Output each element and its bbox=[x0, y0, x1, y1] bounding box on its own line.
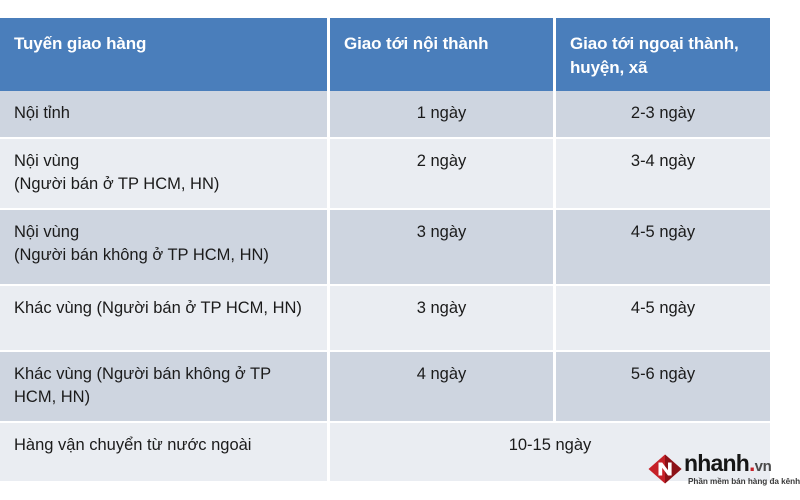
column-header-outer-city: Giao tới ngoại thành, huyện, xã bbox=[556, 18, 770, 91]
cell-inner-city: 4 ngày bbox=[330, 352, 556, 423]
cell-inner-city: 2 ngày bbox=[330, 139, 556, 210]
table-header-row: Tuyến giao hàng Giao tới nội thành Giao … bbox=[0, 18, 770, 91]
table-row: Nội vùng (Người bán không ở TP HCM, HN) … bbox=[0, 210, 770, 286]
cell-outer-city: 4-5 ngày bbox=[556, 286, 770, 352]
cell-route: Nội vùng (Người bán ở TP HCM, HN) bbox=[0, 139, 330, 210]
table-row: Nội vùng (Người bán ở TP HCM, HN) 2 ngày… bbox=[0, 139, 770, 210]
cell-inner-city: 3 ngày bbox=[330, 210, 556, 286]
cell-route: Hàng vận chuyển từ nước ngoài bbox=[0, 423, 330, 481]
cell-inner-city: 1 ngày bbox=[330, 91, 556, 138]
route-label-line1: Nội vùng bbox=[14, 223, 79, 241]
route-label-line2: (Người bán không ở TP HCM, HN) bbox=[14, 244, 313, 267]
table-header: Tuyến giao hàng Giao tới nội thành Giao … bbox=[0, 18, 770, 91]
cell-inner-city: 3 ngày bbox=[330, 286, 556, 352]
column-header-inner-city: Giao tới nội thành bbox=[330, 18, 556, 91]
table-body: Nội tỉnh 1 ngày 2-3 ngày Nội vùng (Người… bbox=[0, 91, 770, 480]
cell-outer-city: 2-3 ngày bbox=[556, 91, 770, 138]
table-row: Khác vùng (Người bán không ở TP HCM, HN)… bbox=[0, 352, 770, 423]
table-row: Nội tỉnh 1 ngày 2-3 ngày bbox=[0, 91, 770, 138]
column-header-route: Tuyến giao hàng bbox=[0, 18, 330, 91]
logo-tagline: Phần mềm bán hàng đa kênh bbox=[688, 477, 800, 486]
cell-route: Khác vùng (Người bán ở TP HCM, HN) bbox=[0, 286, 330, 352]
cell-outer-city: 3-4 ngày bbox=[556, 139, 770, 210]
route-label-line2: (Người bán ở TP HCM, HN) bbox=[14, 173, 313, 196]
cell-route: Nội tỉnh bbox=[0, 91, 330, 138]
logo-wordmark: nhanh.vn bbox=[684, 452, 772, 475]
route-label-line1: Khác vùng (Người bán không ở TP HCM, HN) bbox=[14, 365, 271, 406]
nhanh-diamond-n-icon bbox=[648, 454, 682, 484]
cell-route: Nội vùng (Người bán không ở TP HCM, HN) bbox=[0, 210, 330, 286]
shipping-time-table: Tuyến giao hàng Giao tới nội thành Giao … bbox=[0, 18, 770, 481]
route-label-line1: Nội tỉnh bbox=[14, 104, 70, 122]
logo-name: nhanh bbox=[684, 450, 749, 476]
route-label-line1: Hàng vận chuyển từ nước ngoài bbox=[14, 436, 251, 454]
screenshot-canvas: Tuyến giao hàng Giao tới nội thành Giao … bbox=[0, 0, 800, 500]
route-label-line1: Nội vùng bbox=[14, 152, 79, 170]
logo-tld: vn bbox=[755, 458, 772, 475]
nhanh-vn-logo: nhanh.vn Phần mềm bán hàng đa kênh bbox=[648, 452, 790, 492]
route-label-line1: Khác vùng (Người bán ở TP HCM, HN) bbox=[14, 299, 302, 317]
cell-outer-city: 4-5 ngày bbox=[556, 210, 770, 286]
cell-outer-city: 5-6 ngày bbox=[556, 352, 770, 423]
cell-route: Khác vùng (Người bán không ở TP HCM, HN) bbox=[0, 352, 330, 423]
table-row: Khác vùng (Người bán ở TP HCM, HN) 3 ngà… bbox=[0, 286, 770, 352]
